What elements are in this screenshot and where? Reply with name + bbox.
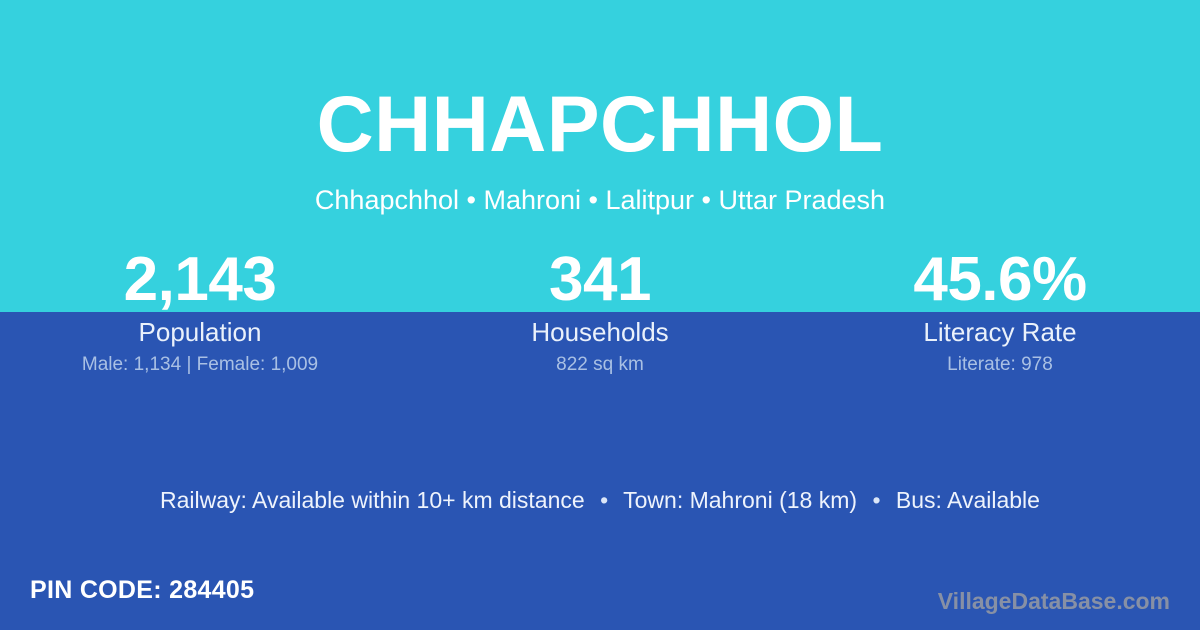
stat-sublabel: Literate: 978: [800, 353, 1200, 377]
stat-label: Population: [0, 316, 400, 348]
stat-value: 341: [400, 248, 800, 312]
amenity-separator: •: [591, 483, 617, 517]
stat-sublabel: Male: 1,134 | Female: 1,009: [0, 353, 400, 377]
stat-value: 45.6%: [800, 248, 1200, 312]
stat-households: 341 Households 822 sq km: [400, 248, 800, 377]
amenities-line: Railway: Available within 10+ km distanc…: [0, 483, 1200, 517]
page-title: CHHAPCHHOL: [0, 76, 1200, 172]
breadcrumb: Chhapchhol • Mahroni • Lalitpur • Uttar …: [0, 180, 1200, 220]
stat-sublabel: 822 sq km: [400, 353, 800, 377]
stat-literacy-rate: 45.6% Literacy Rate Literate: 978: [800, 248, 1200, 377]
site-watermark: VillageDataBase.com: [938, 586, 1170, 616]
stat-label: Households: [400, 316, 800, 348]
pincode-label: PIN CODE: 284405: [30, 574, 254, 606]
stat-population: 2,143 Population Male: 1,134 | Female: 1…: [0, 248, 400, 377]
amenity-railway: Railway: Available within 10+ km distanc…: [160, 487, 585, 513]
amenity-town: Town: Mahroni (18 km): [623, 487, 857, 513]
stat-value: 2,143: [0, 248, 400, 312]
stat-label: Literacy Rate: [800, 316, 1200, 348]
amenity-separator: •: [863, 483, 889, 517]
village-info-card: CHHAPCHHOL Chhapchhol • Mahroni • Lalitp…: [0, 0, 1200, 630]
amenity-bus: Bus: Available: [896, 487, 1040, 513]
stats-row: 2,143 Population Male: 1,134 | Female: 1…: [0, 248, 1200, 377]
card-footer: PIN CODE: 284405 VillageDataBase.com: [0, 566, 1200, 630]
